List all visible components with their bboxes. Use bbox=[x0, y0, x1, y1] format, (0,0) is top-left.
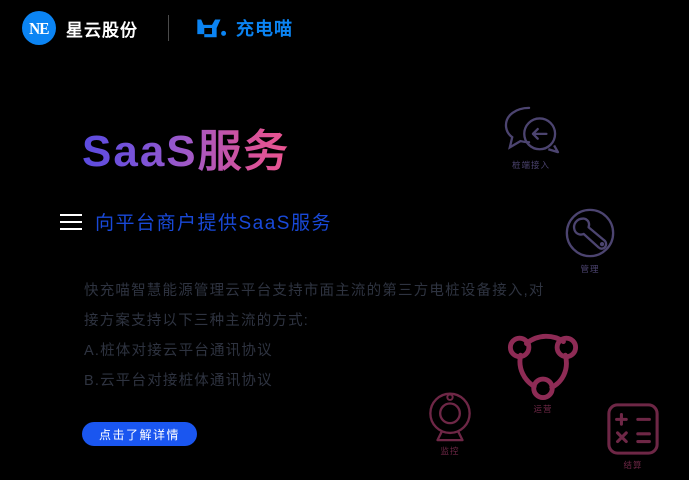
wrench-icon bbox=[563, 206, 617, 260]
chongdianmiao-logo-icon bbox=[195, 17, 229, 39]
feature-label: 运营 bbox=[533, 403, 552, 415]
feature-settlement: 结算 bbox=[606, 402, 660, 471]
feature-monitoring: 监控 bbox=[425, 390, 475, 457]
page-subtitle-row: 向平台商户提供SaaS服务 bbox=[60, 208, 332, 235]
page-subtitle: 向平台商户提供SaaS服务 bbox=[95, 208, 332, 235]
chongdianmiao-brand-name: 充电喵 bbox=[236, 15, 293, 41]
menu-icon bbox=[60, 214, 82, 230]
feature-pile-access: 桩端接入 bbox=[500, 104, 562, 171]
feature-management: 管理 bbox=[563, 206, 617, 275]
xingyun-brand-name: 星云股份 bbox=[66, 16, 138, 41]
feature-label: 管理 bbox=[580, 263, 599, 275]
feature-label: 结算 bbox=[623, 459, 642, 471]
page-title: SaaS服务 bbox=[82, 128, 290, 176]
speech-bubbles-icon bbox=[500, 104, 562, 156]
page-header: NE 星云股份 充电喵 bbox=[0, 0, 689, 56]
feature-label: 监控 bbox=[440, 445, 459, 457]
xingyun-logo-icon: NE bbox=[22, 11, 56, 45]
brand-chongdianmiao[interactable]: 充电喵 bbox=[195, 15, 293, 41]
network-nodes-icon bbox=[505, 326, 581, 400]
xingyun-logo-monogram: NE bbox=[29, 20, 48, 37]
learn-more-button[interactable]: 点击了解详情 bbox=[82, 422, 197, 446]
feature-operations: 运营 bbox=[505, 326, 581, 415]
calculator-icon bbox=[606, 402, 660, 456]
feature-label: 桩端接入 bbox=[512, 159, 550, 171]
camera-icon bbox=[425, 390, 475, 442]
header-divider bbox=[168, 15, 169, 41]
description-line: 快充喵智慧能源管理云平台支持市面主流的第三方电桩设备接入,对 bbox=[84, 276, 584, 306]
brand-xingyun[interactable]: NE 星云股份 bbox=[22, 11, 138, 45]
